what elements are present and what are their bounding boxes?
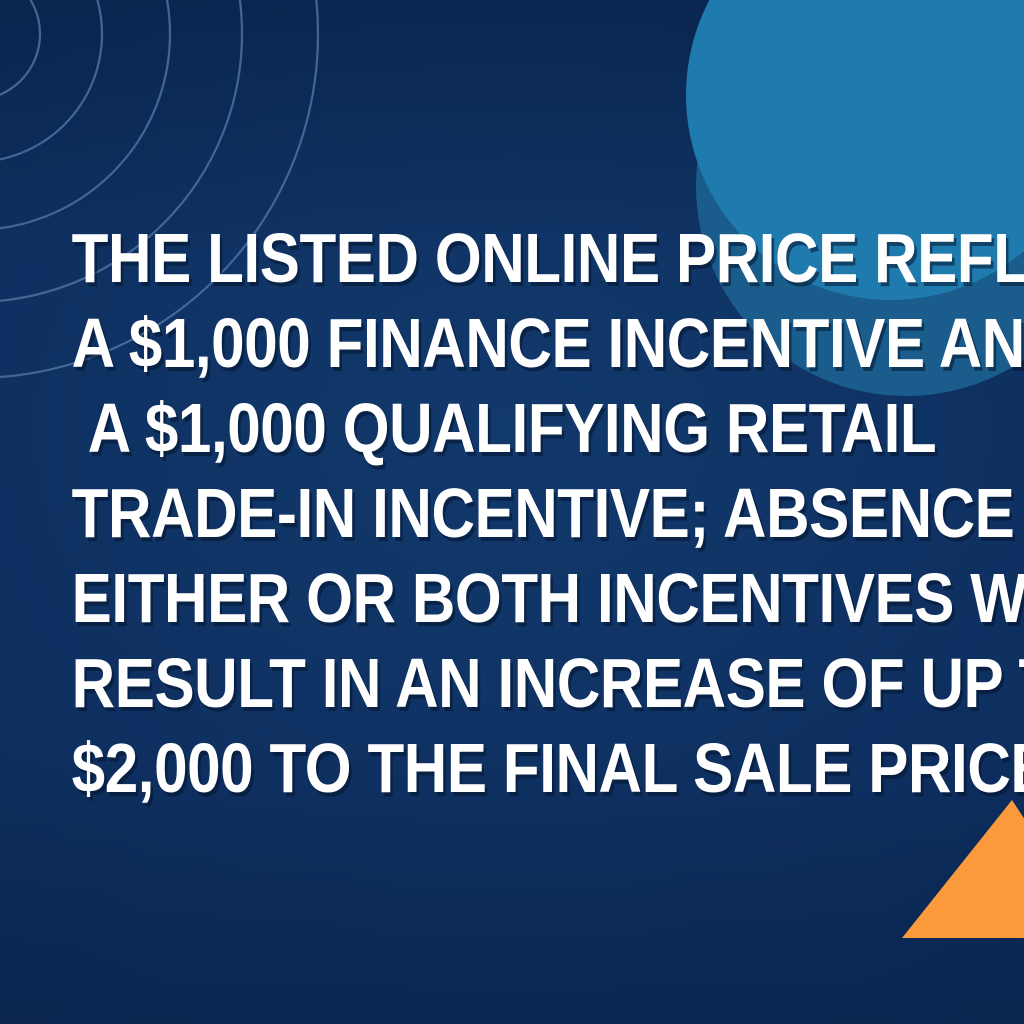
headline-line-5: EITHER OR BOTH INCENTIVES WILL <box>72 556 953 641</box>
headline-line-3: A $1,000 QUALIFYING RETAIL <box>72 386 953 471</box>
disclaimer-headline: THE LISTED ONLINE PRICE REFLECTS A $1,00… <box>72 216 953 811</box>
headline-line-1: THE LISTED ONLINE PRICE REFLECTS <box>72 216 953 301</box>
headline-line-6: RESULT IN AN INCREASE OF UP TO <box>72 641 953 726</box>
disclaimer-graphic: THE LISTED ONLINE PRICE REFLECTS A $1,00… <box>0 0 1024 1024</box>
headline-line-7: $2,000 TO THE FINAL SALE PRICE. <box>72 726 953 811</box>
headline-line-4: TRADE-IN INCENTIVE; ABSENCE OF <box>72 471 953 556</box>
headline-line-2: A $1,000 FINANCE INCENTIVE AND <box>72 301 953 386</box>
